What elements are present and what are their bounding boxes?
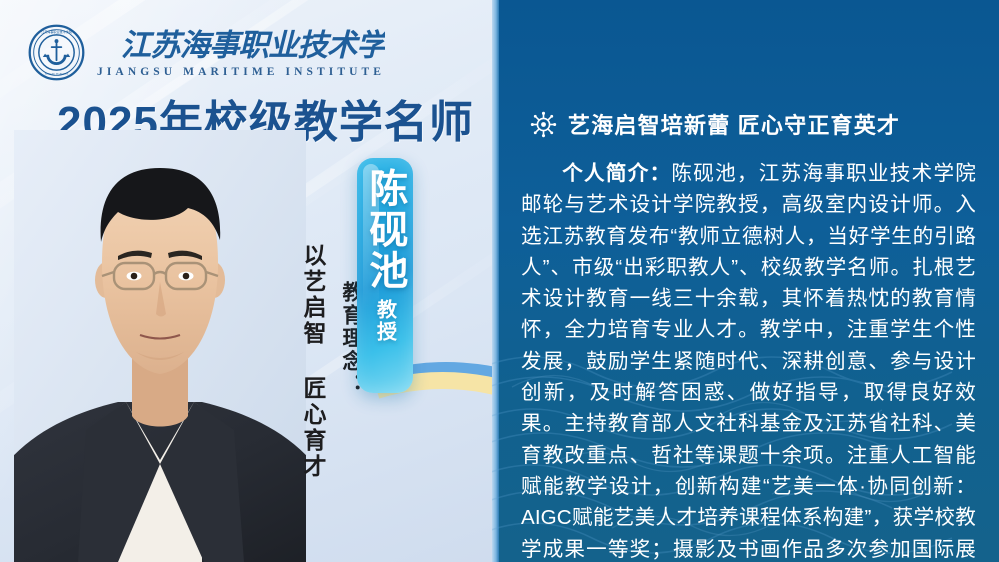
teacher-name: 陈砚池 bbox=[365, 168, 405, 291]
ship-helm-icon bbox=[530, 111, 557, 138]
section-heading: 艺海启智培新蕾 匠心守正育英才 bbox=[530, 108, 900, 140]
teacher-rank: 教授 bbox=[371, 299, 400, 343]
philosophy-text: 以艺启智 匠心育才 bbox=[296, 243, 330, 480]
biography-body: 陈砚池，江苏海事职业技术学院邮轮与艺术设计学院教授，高级室内设计师。入选江苏教育… bbox=[521, 162, 976, 562]
brand-logo: 江苏海事职业技术学院 JIANGSU MARITIME 1954 江苏海事职业技… bbox=[28, 24, 385, 81]
anchor-crest-icon: 江苏海事职业技术学院 JIANGSU MARITIME 1954 bbox=[28, 24, 85, 81]
section-heading-text: 艺海启智培新蕾 匠心守正育英才 bbox=[568, 108, 900, 140]
svg-text:JIANGSU MARITIME: JIANGSU MARITIME bbox=[45, 73, 69, 76]
svg-text:江苏海事职业技术学院: 江苏海事职业技术学院 bbox=[41, 29, 72, 34]
name-badge: 陈砚池 教授 bbox=[357, 158, 413, 393]
biography-paragraph: 个人简介：陈砚池，江苏海事职业技术学院邮轮与艺术设计学院教授，高级室内设计师。入… bbox=[521, 158, 976, 562]
panel-edge-highlight bbox=[492, 0, 499, 562]
svg-text:江苏海事职业技术学院: 江苏海事职业技术学院 bbox=[121, 29, 385, 63]
brand-name-cn-calligraphy: 江苏海事职业技术学院 bbox=[94, 26, 385, 64]
philosophy-block: 教育理念： 以艺启智 匠心育才 bbox=[296, 243, 366, 480]
poster-root: 江苏海事职业技术学院 JIANGSU MARITIME 1954 江苏海事职业技… bbox=[0, 0, 999, 562]
portrait-photo bbox=[14, 130, 306, 562]
left-panel: 江苏海事职业技术学院 JIANGSU MARITIME 1954 江苏海事职业技… bbox=[0, 0, 500, 562]
biography-label: 个人简介： bbox=[562, 162, 671, 185]
brand-name-en: JIANGSU MARITIME INSTITUTE bbox=[97, 67, 385, 79]
svg-text:1954: 1954 bbox=[53, 61, 60, 65]
right-panel: 艺海启智培新蕾 匠心守正育英才 个人简介：陈砚池，江苏海事职业技术学院邮轮与艺术… bbox=[492, 0, 999, 562]
